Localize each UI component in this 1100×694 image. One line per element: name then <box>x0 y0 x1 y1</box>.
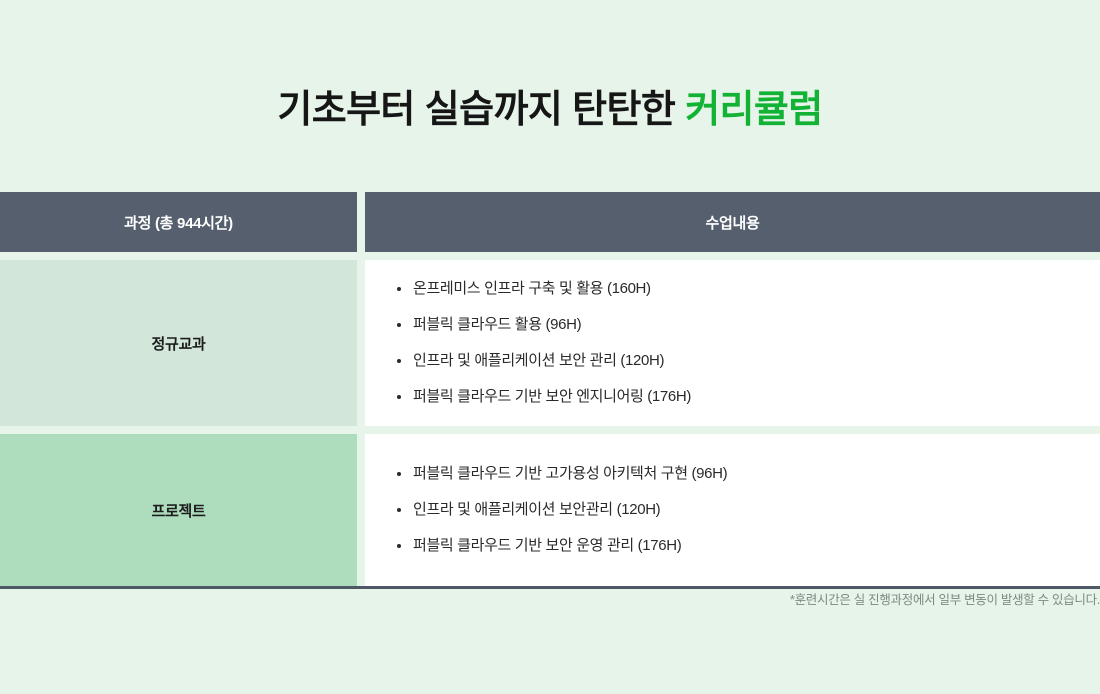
page-title-accent: 커리큘럼 <box>685 89 822 131</box>
row-label-cell-regular: 정규교과 <box>0 260 357 426</box>
table-header-cell-course: 과정 (총 944시간) <box>0 192 357 252</box>
list-item: 온프레미스 인프라 구축 및 활용 (160H) <box>395 279 1100 299</box>
row-content-cell-project: 퍼블릭 클라우드 기반 고가용성 아키텍처 구현 (96H) 인프라 및 애플리… <box>365 434 1100 586</box>
table-row: 프로젝트 퍼블릭 클라우드 기반 고가용성 아키텍처 구현 (96H) 인프라 … <box>0 434 1100 586</box>
course-item-list: 온프레미스 인프라 구축 및 활용 (160H) 퍼블릭 클라우드 활용 (96… <box>395 279 1100 408</box>
curriculum-page: 기초부터 실습까지 탄탄한 커리큘럼 과정 (총 944시간) 수업내용 정규교… <box>0 0 1100 694</box>
page-title: 기초부터 실습까지 탄탄한 커리큘럼 <box>0 88 1100 134</box>
page-title-main: 기초부터 실습까지 탄탄한 <box>277 89 685 131</box>
row-label-regular: 정규교과 <box>151 333 205 354</box>
table-header-row: 과정 (총 944시간) 수업내용 <box>0 192 1100 252</box>
list-item: 인프라 및 애플리케이션 보안관리 (120H) <box>395 500 1100 520</box>
list-item: 퍼블릭 클라우드 기반 보안 엔지니어링 (176H) <box>395 387 1100 407</box>
list-item: 퍼블릭 클라우드 기반 고가용성 아키텍처 구현 (96H) <box>395 464 1100 484</box>
row-label-project: 프로젝트 <box>151 500 205 521</box>
list-item: 퍼블릭 클라우드 활용 (96H) <box>395 315 1100 335</box>
page-title-wrapper: 기초부터 실습까지 탄탄한 커리큘럼 <box>0 0 1100 134</box>
list-item: 인프라 및 애플리케이션 보안 관리 (120H) <box>395 351 1100 371</box>
curriculum-table: 과정 (총 944시간) 수업내용 정규교과 온프레미스 인프라 구축 및 활용… <box>0 192 1100 589</box>
list-item: 퍼블릭 클라우드 기반 보안 운영 관리 (176H) <box>395 536 1100 556</box>
footnote-text: *훈련시간은 실 진행과정에서 일부 변동이 발생할 수 있습니다. <box>790 589 1100 608</box>
table-header-content-label: 수업내용 <box>705 212 759 233</box>
row-content-cell-regular: 온프레미스 인프라 구축 및 활용 (160H) 퍼블릭 클라우드 활용 (96… <box>365 260 1100 426</box>
row-label-cell-project: 프로젝트 <box>0 434 357 586</box>
table-header-course-label: 과정 (총 944시간) <box>124 212 233 233</box>
table-header-cell-content: 수업내용 <box>365 192 1100 252</box>
course-item-list: 퍼블릭 클라우드 기반 고가용성 아키텍처 구현 (96H) 인프라 및 애플리… <box>395 464 1100 557</box>
table-row: 정규교과 온프레미스 인프라 구축 및 활용 (160H) 퍼블릭 클라우드 활… <box>0 260 1100 426</box>
